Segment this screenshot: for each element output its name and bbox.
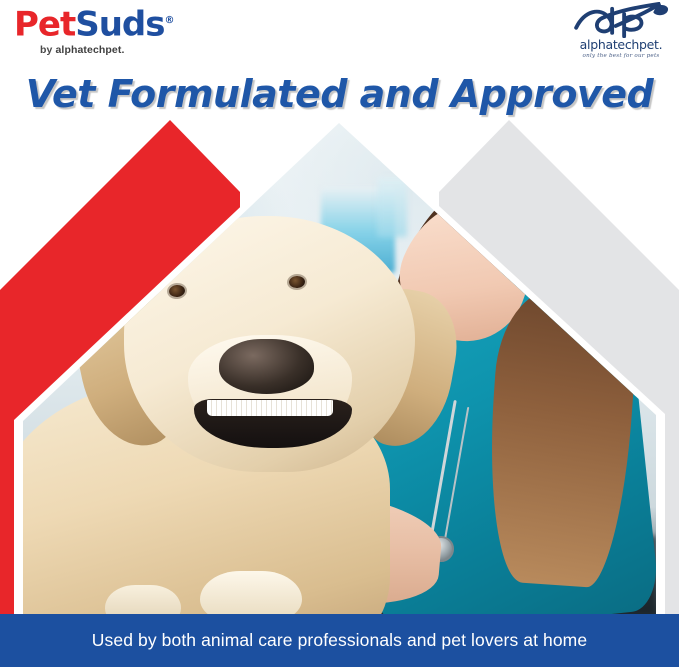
- brand-word-suds: Suds: [75, 4, 164, 44]
- alphatechpet-corporate-logo: alphatechpet. only the best for our pets: [571, 2, 671, 68]
- bottom-banner-text: Used by both animal care professionals a…: [92, 630, 587, 651]
- veterinarian-with-dog-photo: [23, 123, 656, 615]
- registered-trademark-icon: ®: [165, 15, 174, 26]
- brand-byline-prefix: by: [40, 44, 55, 56]
- corporate-logo-name: alphatechpet.: [571, 38, 671, 51]
- photo-scene: [23, 123, 656, 615]
- marketing-banner: PetSuds® by alphatechpet. alphatechpet. …: [0, 0, 679, 667]
- atp-monogram-swoosh-icon: [571, 2, 674, 38]
- brand-word-pet: Pet: [14, 4, 75, 44]
- background-poster-secondary: [377, 177, 407, 237]
- dog-teeth: [207, 400, 334, 416]
- petsuds-brand-logo: PetSuds® by alphatechpet.: [14, 4, 204, 56]
- dog-nose: [219, 339, 314, 393]
- petsuds-wordmark-icon: PetSuds®: [14, 4, 204, 41]
- bottom-banner: Used by both animal care professionals a…: [0, 614, 679, 667]
- brand-byline-company: alphatechpet.: [55, 44, 124, 56]
- dog-paw-second: [105, 585, 181, 615]
- brand-byline: by alphatechpet.: [40, 44, 204, 56]
- hero-photo-frame: [14, 114, 665, 615]
- page-title: Vet Formulated and Approved: [0, 72, 679, 116]
- corporate-logo-tagline: only the best for our pets: [571, 53, 671, 59]
- dog-paw-front: [200, 571, 301, 615]
